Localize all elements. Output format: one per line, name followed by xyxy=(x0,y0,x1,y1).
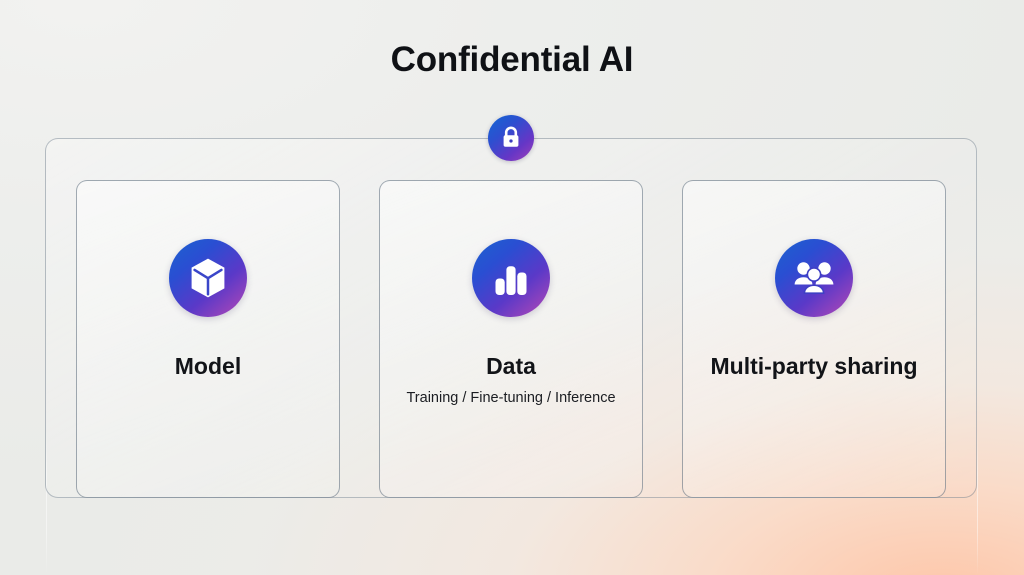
bar-chart-icon xyxy=(491,258,531,298)
slide-canvas: Confidential AI Model xyxy=(0,0,1024,575)
card-data-label: Data xyxy=(474,351,548,381)
lock-icon-badge xyxy=(488,115,534,161)
cube-icon xyxy=(188,256,228,300)
card-data[interactable]: Data Training / Fine-tuning / Inference xyxy=(379,180,643,498)
card-data-subtitle: Training / Fine-tuning / Inference xyxy=(388,389,633,409)
people-group-icon xyxy=(793,259,835,297)
card-multi-party-sharing[interactable]: Multi-party sharing xyxy=(682,180,946,498)
lock-icon xyxy=(499,125,523,151)
background-streak-right xyxy=(977,430,978,575)
card-model[interactable]: Model xyxy=(76,180,340,498)
cube-icon-circle xyxy=(169,239,247,317)
card-model-label: Model xyxy=(163,351,253,381)
page-title: Confidential AI xyxy=(0,40,1024,80)
pillar-card-list: Model Data Training / Fine-tuning / Infe… xyxy=(76,180,946,498)
people-group-icon-circle xyxy=(775,239,853,317)
bar-chart-icon-circle xyxy=(472,239,550,317)
card-multi-party-sharing-label: Multi-party sharing xyxy=(698,351,929,381)
